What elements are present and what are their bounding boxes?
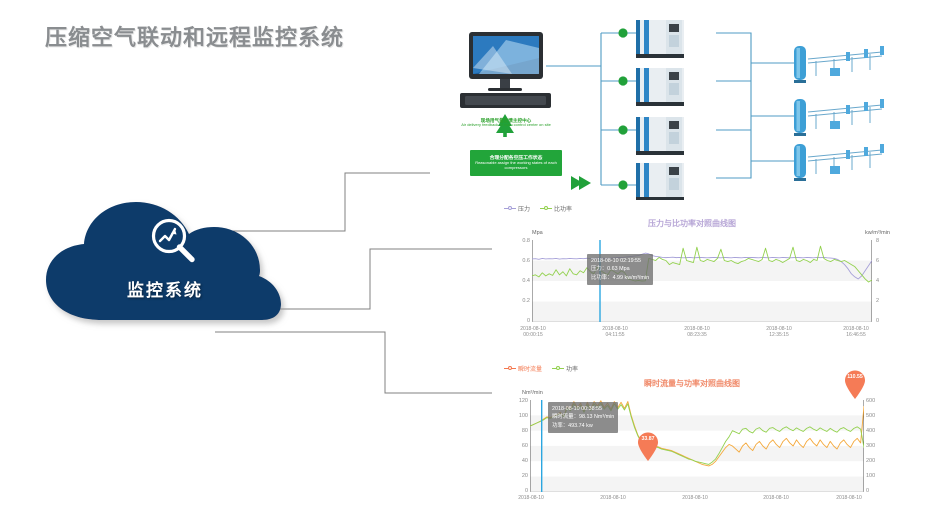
pressure-xtick-2-date: 2018-08-10 <box>684 326 710 332</box>
flow-y2tick-6: 0 <box>866 488 888 494</box>
flow-ytick-3: 60 <box>498 443 528 449</box>
pressure-xtick-3-time: 12:35:15 <box>769 332 788 338</box>
pressure-xtick-0-time: 00:00:15 <box>523 332 542 338</box>
flow-xtick-4: 2018-08-10 <box>822 495 876 501</box>
flow-xtick-2: 2018-08-10 <box>668 495 722 501</box>
pressure-chart-title: 压力与比功率对照曲线图 <box>492 218 892 229</box>
magnifier-chart-icon <box>144 212 204 272</box>
flow-y2tick-2: 400 <box>866 428 888 434</box>
monitoring-cloud[interactable]: 监控系统 <box>40 192 290 332</box>
pressure-xtick-4-date: 2018-08-10 <box>843 326 869 332</box>
legend-item-flow[interactable]: 瞬时流量 <box>504 364 542 373</box>
desktop-computer-icon <box>460 32 551 108</box>
flow-xtick-0: 2018-08-10 <box>504 495 558 501</box>
flow-tooltip-line-1: 功率：493.74 kw <box>552 422 614 430</box>
flow-chart-pin-max[interactable]: 110.55 <box>844 370 866 400</box>
pressure-xtick-2-time: 08:23:35 <box>687 332 706 338</box>
compressor-units <box>636 20 684 200</box>
pressure-xtick-1: 2018-08-10 04:11:55 <box>588 326 642 339</box>
pressure-xtick-1-date: 2018-08-10 <box>602 326 628 332</box>
flow-power-chart-panel: 瞬时流量 功率 瞬时流量与功率对照曲线图 Nm³/min 120 100 80 … <box>492 362 892 522</box>
pressure-tooltip-line-1: 比功率：4.99 kw/m³/min <box>591 274 649 282</box>
flow-ytick-5: 20 <box>498 473 528 479</box>
callout-en: Reasonable assign the working states of … <box>470 161 562 170</box>
flow-tooltip-timestamp: 2018-08-10 00:38:55 <box>552 405 614 413</box>
flow-ytick-4: 40 <box>498 458 528 464</box>
pressure-ytick-2: 0.4 <box>506 278 530 284</box>
pressure-y2tick-1: 6 <box>876 258 890 264</box>
pressure-ytick-1: 0.6 <box>506 258 530 264</box>
legend-marker-pressure <box>504 206 516 212</box>
flow-y2tick-0: 600 <box>866 398 888 404</box>
pressure-y2tick-2: 4 <box>876 278 890 284</box>
flow-pin-max-label: 110.55 <box>844 374 866 380</box>
pressure-y-axis-unit: Mpa <box>532 230 543 236</box>
pressure-y2tick-3: 2 <box>876 298 890 304</box>
pressure-xtick-4-time: 16:46:55 <box>846 332 865 338</box>
flow-xtick-3: 2018-08-10 <box>749 495 803 501</box>
compressor-status-dots <box>618 28 627 189</box>
legend-item-power[interactable]: 功率 <box>552 364 578 373</box>
pressure-xtick-0: 2018-08-10 00:00:15 <box>506 326 560 339</box>
play-arrow-icon <box>571 176 591 190</box>
air-tanks-and-pipelines <box>794 46 884 181</box>
pressure-chart-tooltip: 2018-08-10 02:19:55 压力：0.63 Mpa 比功率：4.99… <box>587 254 653 285</box>
pressure-xtick-3-date: 2018-08-10 <box>766 326 792 332</box>
pressure-tooltip-line-0: 压力：0.63 Mpa <box>591 265 649 273</box>
flow-chart-pin-min[interactable]: 33.87 <box>637 432 659 462</box>
pressure-y2-axis-unit: kw/m³/min <box>865 230 890 236</box>
flow-pin-min-label: 33.87 <box>637 436 659 442</box>
flow-y2tick-5: 100 <box>866 473 888 479</box>
flow-ytick-6: 0 <box>498 488 528 494</box>
flow-ytick-1: 100 <box>498 413 528 419</box>
pressure-xtick-2: 2018-08-10 08:23:35 <box>670 326 724 339</box>
cloud-label: 监控系统 <box>40 276 290 301</box>
legend-label-flow: 瞬时流量 <box>518 364 542 373</box>
pressure-xtick-1-time: 04:11:55 <box>605 332 624 338</box>
slide-canvas: 压缩空气联动和远程监控系统 监控系统 <box>0 0 945 529</box>
compressor-status-callout: 合理分配各空压工作状态 Reasonable assign the workin… <box>470 150 562 176</box>
legend-item-specific-power[interactable]: 比功率 <box>540 204 572 213</box>
control-center-note: 现场用气量反馈主控中心 Air delivery feedback of mai… <box>446 118 566 128</box>
legend-label-pressure: 压力 <box>518 204 530 213</box>
flow-ytick-0: 120 <box>498 398 528 404</box>
legend-label-specific-power: 比功率 <box>554 204 572 213</box>
flow-y2tick-1: 500 <box>866 413 888 419</box>
pressure-ytick-3: 0.2 <box>506 298 530 304</box>
pressure-chart-panel: 压力 比功率 压力与比功率对照曲线图 Mpa kw/m³/min 0.8 0.6… <box>492 200 892 335</box>
pressure-chart-legend[interactable]: 压力 比功率 <box>504 204 572 213</box>
flow-chart-legend[interactable]: 瞬时流量 功率 <box>504 364 578 373</box>
legend-item-pressure[interactable]: 压力 <box>504 204 530 213</box>
legend-marker-specific-power <box>540 206 552 212</box>
pressure-ytick-4: 0 <box>506 318 530 324</box>
pressure-xtick-3: 2018-08-10 12:35:15 <box>752 326 806 339</box>
pressure-chart-plot[interactable] <box>532 240 872 322</box>
pressure-xtick-0-date: 2018-08-10 <box>520 326 546 332</box>
pressure-xtick-4: 2018-08-10 16:46:55 <box>829 326 883 339</box>
flow-tooltip-line-0: 瞬时流量：98.13 Nm³/min <box>552 413 614 421</box>
flow-chart-tooltip: 2018-08-10 00:38:55 瞬时流量：98.13 Nm³/min 功… <box>548 402 618 433</box>
flow-y2tick-3: 300 <box>866 443 888 449</box>
pressure-tooltip-timestamp: 2018-08-10 02:19:55 <box>591 257 649 265</box>
pressure-ytick-0: 0.8 <box>506 238 530 244</box>
flow-ytick-2: 80 <box>498 428 528 434</box>
pressure-y2tick-0: 8 <box>876 238 890 244</box>
legend-marker-flow <box>504 366 516 372</box>
flow-y-axis-unit: Nm³/min <box>522 390 543 396</box>
flow-xtick-1: 2018-08-10 <box>586 495 640 501</box>
flow-y2tick-4: 200 <box>866 458 888 464</box>
pressure-y2tick-4: 0 <box>876 318 890 324</box>
flow-chart-title: 瞬时流量与功率对照曲线图 <box>492 378 892 389</box>
legend-label-power: 功率 <box>566 364 578 373</box>
control-center-note-en: Air delivery feedback of main control ce… <box>446 123 566 128</box>
legend-marker-power <box>552 366 564 372</box>
